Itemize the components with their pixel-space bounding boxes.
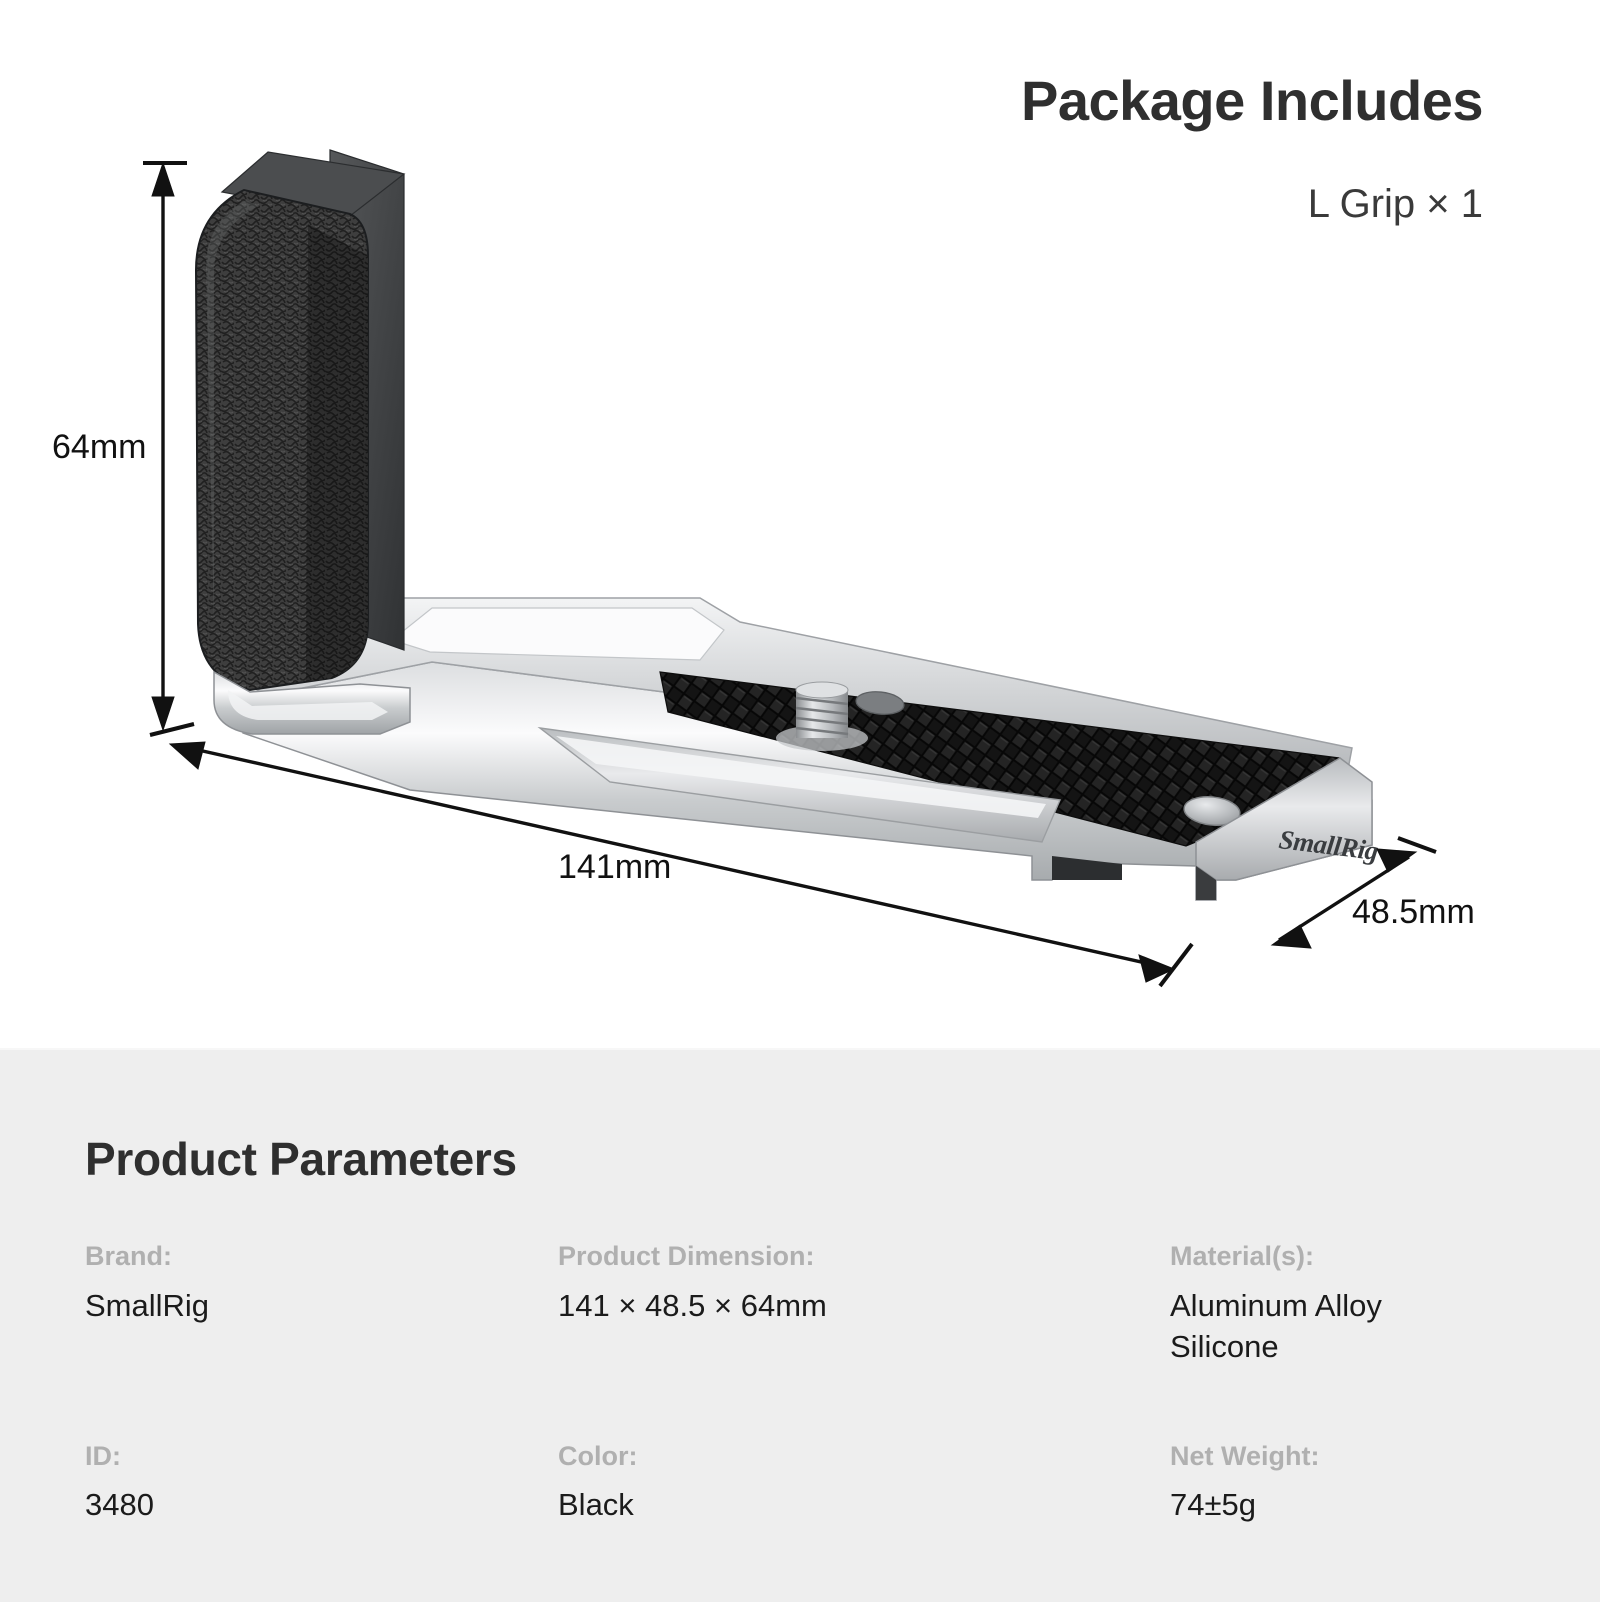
- param-value-id: 3480: [85, 1485, 558, 1526]
- param-label-net-weight: Net Weight:: [1170, 1440, 1515, 1474]
- param-materials: Material(s): Aluminum Alloy Silicone: [1170, 1240, 1515, 1368]
- depth-arrow-lower: [1272, 925, 1311, 948]
- param-color: Color: Black: [558, 1440, 1170, 1527]
- param-value-color: Black: [558, 1485, 1170, 1526]
- grip-side-shade: [306, 224, 368, 682]
- depth-tick: [1398, 838, 1436, 852]
- base-plate: SmallRig: [243, 598, 1380, 900]
- dimension-label-depth: 48.5mm: [1352, 893, 1475, 932]
- param-net-weight: Net Weight: 74±5g: [1170, 1440, 1515, 1527]
- param-value-product-dimension: 141 × 48.5 × 64mm: [558, 1286, 1170, 1327]
- height-tick-bottom: [150, 724, 194, 735]
- length-arrow-left: [170, 742, 205, 769]
- param-label-materials: Material(s):: [1170, 1240, 1515, 1274]
- param-brand: Brand: SmallRig: [85, 1240, 558, 1368]
- param-label-id: ID:: [85, 1440, 558, 1474]
- dimension-label-length: 141mm: [558, 848, 671, 887]
- param-label-brand: Brand:: [85, 1240, 558, 1274]
- plate-recess: [392, 608, 724, 660]
- height-arrow-up: [152, 163, 174, 196]
- param-value-brand: SmallRig: [85, 1286, 558, 1327]
- depth-arrow-upper: [1377, 849, 1416, 872]
- param-product-dimension: Product Dimension: 141 × 48.5 × 64mm: [558, 1240, 1170, 1368]
- param-label-product-dimension: Product Dimension:: [558, 1240, 1170, 1274]
- length-arrow-right: [1139, 955, 1174, 982]
- height-arrow-down: [152, 697, 174, 730]
- parameters-grid: Brand: SmallRig Product Dimension: 141 ×…: [85, 1240, 1515, 1526]
- product-parameters-section: Product Parameters Brand: SmallRig Produ…: [0, 1048, 1600, 1602]
- product-spec-page: Package Includes L Grip × 1: [0, 0, 1600, 1600]
- param-id: ID: 3480: [85, 1440, 558, 1527]
- l-grip-render: SmallRig: [0, 0, 1600, 1048]
- product-illustration: SmallRig: [0, 0, 1600, 1048]
- param-value-net-weight: 74±5g: [1170, 1485, 1515, 1526]
- param-label-color: Color:: [558, 1440, 1170, 1474]
- dimension-label-height: 64mm: [52, 428, 146, 467]
- section-title: Product Parameters: [85, 1132, 517, 1186]
- package-includes-section: Package Includes L Grip × 1: [0, 0, 1600, 1048]
- param-value-materials: Aluminum Alloy Silicone: [1170, 1286, 1515, 1368]
